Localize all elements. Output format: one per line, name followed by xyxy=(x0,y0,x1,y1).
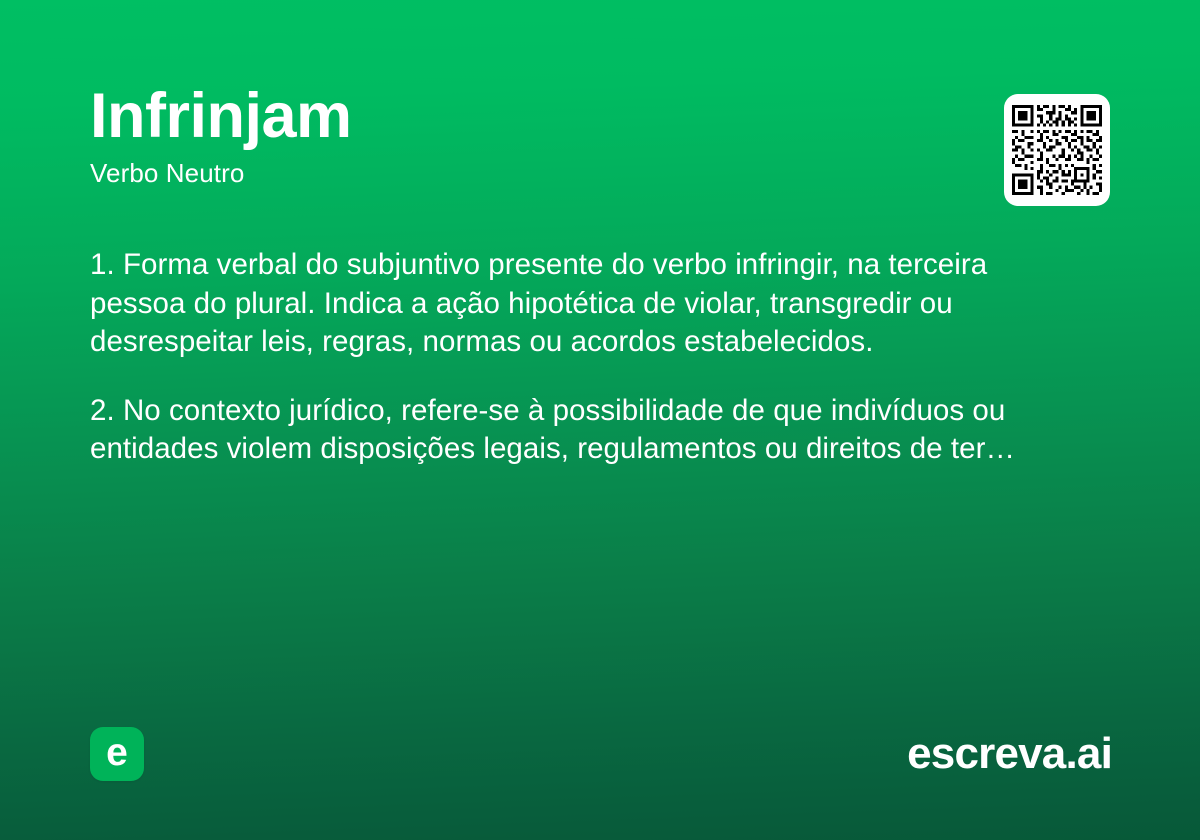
logo-letter: e xyxy=(106,733,128,772)
qr-code-icon xyxy=(1012,105,1102,195)
card-footer: e escreva.ai xyxy=(90,726,1112,782)
dictionary-definition-card: Infrinjam Verbo Neutro xyxy=(0,0,1200,840)
definition-item: 1. Forma verbal do subjuntivo presente d… xyxy=(90,246,1090,362)
qr-code-container[interactable] xyxy=(1004,94,1110,206)
logo-badge: e xyxy=(90,727,144,781)
brand-wordmark: escreva.ai xyxy=(907,732,1112,776)
definition-list: 1. Forma verbal do subjuntivo presente d… xyxy=(90,246,1090,469)
page-title: Infrinjam xyxy=(90,82,1110,150)
card-header: Infrinjam Verbo Neutro xyxy=(90,82,1110,189)
definition-item: 2. No contexto jurídico, refere-se à pos… xyxy=(90,392,1090,469)
word-class-label: Verbo Neutro xyxy=(90,158,1110,189)
